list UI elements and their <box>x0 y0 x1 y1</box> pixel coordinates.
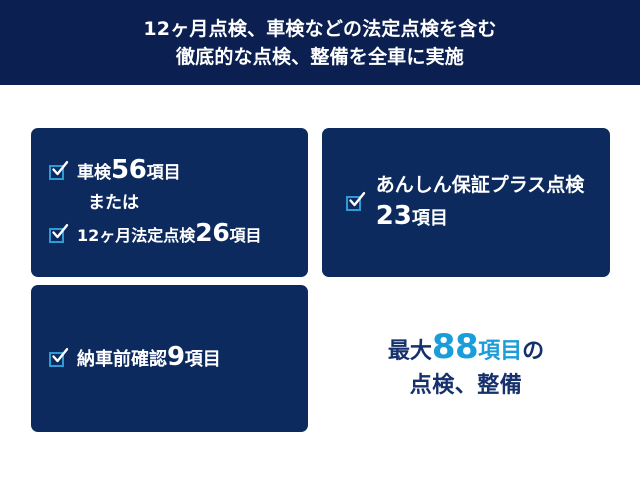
list-item-suffix: 項目 <box>229 226 261 245</box>
list-item: 納車前確認9項目 <box>49 344 290 373</box>
summary-line-2: 点検、整備 <box>410 369 523 403</box>
summary-particle: の <box>522 339 544 364</box>
list-item-text: 12ヶ月法定点検26項目 <box>77 220 262 249</box>
checkbox-checked-icon <box>49 350 66 367</box>
card-pre-delivery-check-content: 納車前確認9項目 <box>31 285 308 432</box>
card-anshin-title: あんしん保証プラス点検 <box>376 170 585 200</box>
list-item-prefix: 12ヶ月法定点検 <box>77 226 195 245</box>
summary-prefix: 最大 <box>388 339 432 364</box>
list-item-prefix: 車検 <box>77 163 111 183</box>
list-item-number: 56 <box>111 155 147 185</box>
list-item-prefix: 納車前確認 <box>77 349 167 370</box>
checkbox-checked-icon <box>49 163 66 180</box>
list-item-suffix: 項目 <box>185 349 221 370</box>
card-anshin-unit: 項目 <box>412 208 448 229</box>
list-item-number: 26 <box>195 218 229 247</box>
card-anshin-number: 23 <box>376 201 412 231</box>
list-item-or: または <box>49 190 290 216</box>
card-pre-delivery-check: 納車前確認9項目 <box>31 285 308 432</box>
card-anshin-hosho-plus-text: あんしん保証プラス点検 23項目 <box>376 170 585 235</box>
header-banner: 12ヶ月点検、車検などの法定点検を含む 徹底的な点検、整備を全車に実施 <box>0 0 640 85</box>
list-item-number: 9 <box>167 342 185 372</box>
header-line-2: 徹底的な点検、整備を全車に実施 <box>176 43 464 71</box>
summary-number: 88 <box>432 327 478 367</box>
card-anshin-hosho-plus: あんしん保証プラス点検 23項目 <box>322 128 610 277</box>
card-anshin-count: 23項目 <box>376 200 585 235</box>
list-item-or-text: または <box>88 190 139 216</box>
header-line-1: 12ヶ月点検、車検などの法定点検を含む <box>143 15 496 43</box>
card-shaken-inspection: 車検56項目 または 12ヶ月法定点検26項目 <box>31 128 308 277</box>
checkbox-checked-icon <box>346 194 363 211</box>
summary-unit: 項目 <box>478 339 522 364</box>
list-item-text: 納車前確認9項目 <box>77 344 221 373</box>
list-item-suffix: 項目 <box>147 163 181 183</box>
list-item: 12ヶ月法定点検26項目 <box>49 220 290 249</box>
summary-total-items: 最大88項目の 点検、整備 <box>322 300 610 432</box>
list-item: 車検56項目 <box>49 157 290 186</box>
list-item-text: 車検56項目 <box>77 157 181 186</box>
checkbox-checked-icon <box>49 226 66 243</box>
summary-line-1: 最大88項目の <box>388 330 544 369</box>
card-shaken-inspection-content: 車検56項目 または 12ヶ月法定点検26項目 <box>31 128 308 277</box>
card-anshin-hosho-plus-content: あんしん保証プラス点検 23項目 <box>322 128 610 277</box>
